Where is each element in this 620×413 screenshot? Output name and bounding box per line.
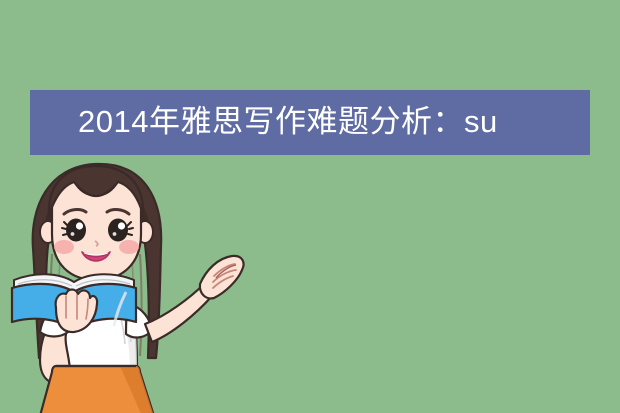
cartoon-girl-svg: [0, 158, 280, 413]
page-title: 2014年雅思写作难题分析：su: [78, 105, 498, 139]
title-banner: 2014年雅思写作难题分析：su: [30, 90, 590, 155]
cartoon-girl-illustration: [0, 158, 280, 413]
screenshot-canvas: 2014年雅思写作难题分析：su: [0, 0, 620, 413]
right-arm-gesture: [126, 256, 244, 342]
